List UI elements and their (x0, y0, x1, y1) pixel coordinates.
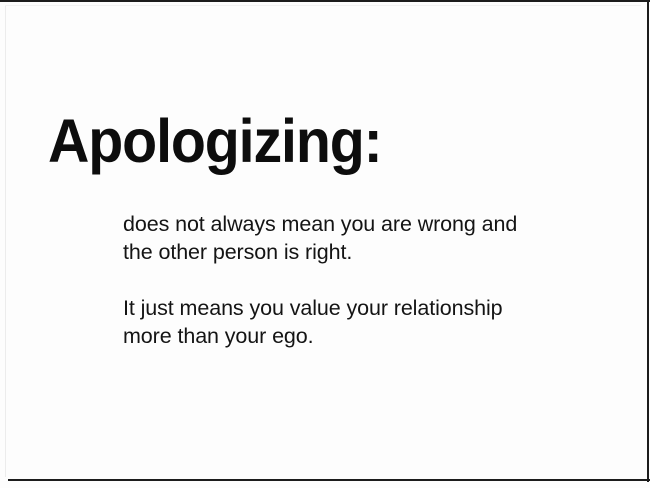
poster-paragraph-1: does not always mean you are wrong and t… (123, 210, 623, 266)
frame-inner-top-line (5, 5, 641, 6)
poster-body: does not always mean you are wrong and t… (123, 210, 623, 350)
poster-paragraph-2: It just means you value your relationshi… (123, 294, 623, 350)
frame-top-border (0, 0, 650, 2)
frame-inner-left-line (5, 5, 6, 477)
frame-bottom-border (8, 479, 650, 481)
frame-right-border (647, 0, 649, 482)
quote-poster: Apologizing: does not always mean you ar… (0, 0, 650, 488)
poster-title: Apologizing: (48, 108, 382, 174)
